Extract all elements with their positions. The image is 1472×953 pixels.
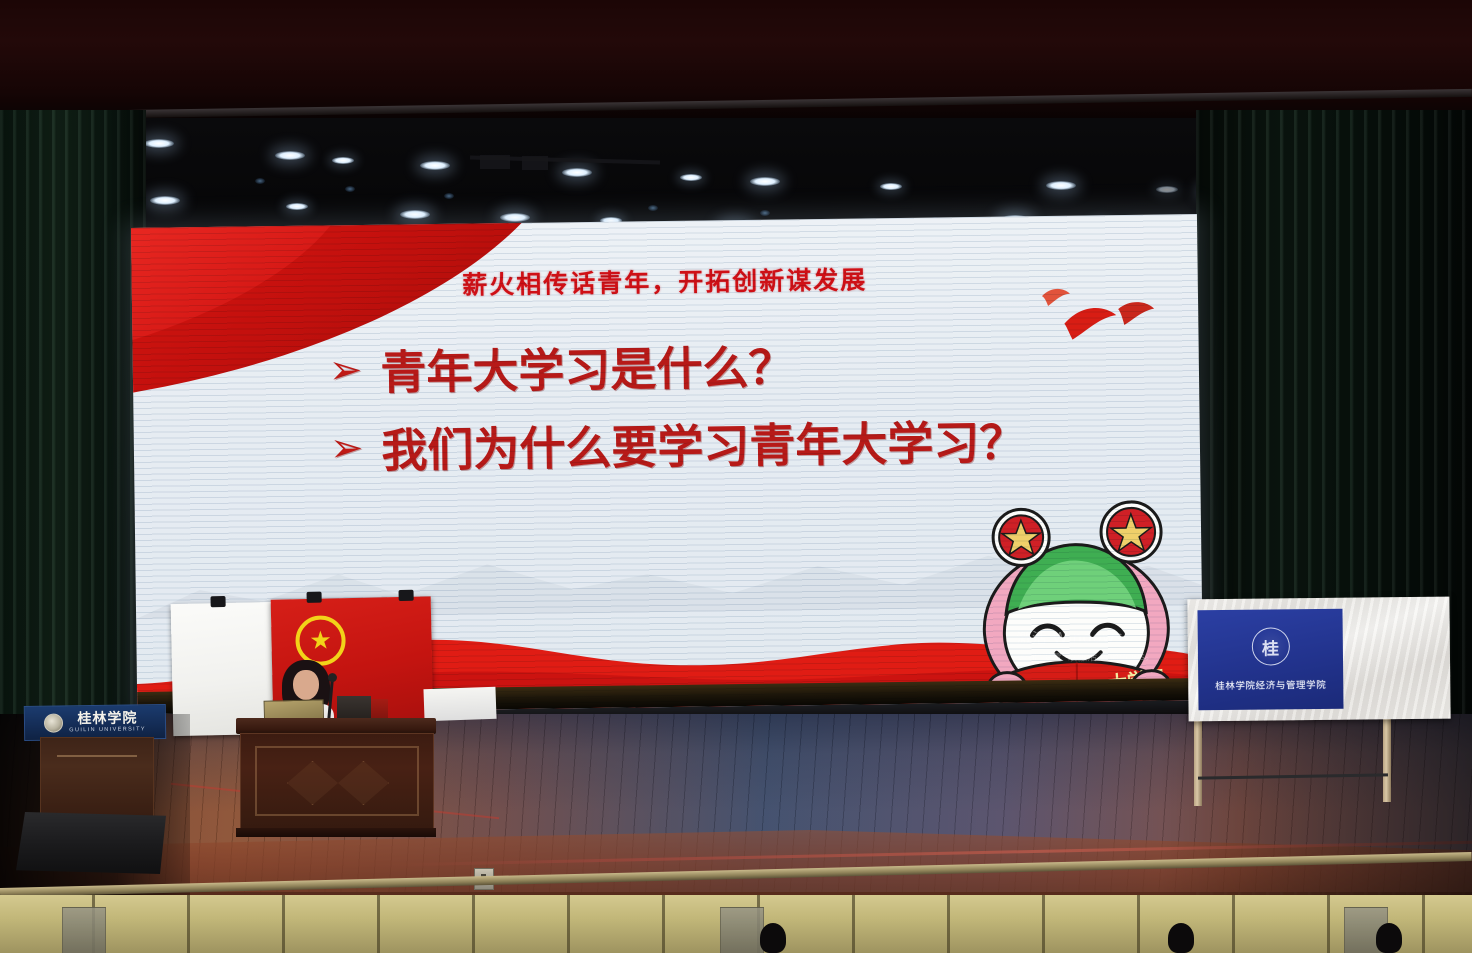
star-icon: ★ [309, 628, 332, 653]
ceiling-light [1046, 181, 1076, 190]
ceiling-light [420, 161, 450, 170]
department-emblem-icon: 桂 [1251, 627, 1289, 665]
blue-indicator-light [255, 178, 265, 184]
audience-head [1168, 923, 1194, 953]
lectern-sign-cn: 桂林学院 [77, 711, 137, 726]
department-banner: 桂 桂林学院经济与管理学院 [1187, 597, 1450, 722]
binder-clip-icon [399, 590, 414, 601]
audience-head [1376, 923, 1402, 953]
blue-indicator-light [345, 186, 355, 192]
slide-bullet-1: ➢ 青年大学习是什么？ [329, 336, 1050, 402]
blue-indicator-light [648, 205, 658, 211]
stage-monitor-speaker [16, 812, 166, 874]
table-base [236, 828, 436, 837]
lectern-sign-text: 桂林学院 GUILIN UNIVERSITY [69, 711, 146, 734]
apron-vent [720, 907, 764, 953]
ceiling-light [400, 210, 430, 219]
audience-head [760, 923, 786, 953]
ceiling-light [500, 213, 530, 222]
lectern-sign: 桂林学院 GUILIN UNIVERSITY [24, 704, 166, 741]
white-banner-strip [423, 687, 496, 721]
binder-clip-icon [307, 592, 322, 603]
ceiling-light [880, 183, 902, 190]
table-panel-border [255, 746, 419, 816]
blue-indicator-light [760, 210, 770, 216]
banner-pole-right [1383, 710, 1391, 802]
ceiling-light [275, 151, 305, 160]
speaker-table [236, 718, 436, 838]
ceiling-light [144, 139, 174, 148]
slide-bullet-2: ➢ 我们为什么要学习青年大学习？ [330, 414, 1051, 480]
ceiling-light [286, 203, 308, 210]
university-logo-icon [44, 713, 63, 732]
rig-bar [480, 155, 510, 169]
blue-indicator-light [444, 193, 454, 199]
ceiling-light [562, 168, 592, 177]
apron-vent [62, 907, 106, 953]
ceiling-light [1156, 186, 1178, 193]
auditorium-scene: 薪火相传话青年，开拓创新谋发展 ➢ 青年大学习是什么？ ➢ 我们为什么要学习青年… [0, 0, 1472, 953]
table-front-panel [240, 733, 434, 831]
banner-text: 桂林学院经济与管理学院 [1215, 677, 1326, 692]
rig-bar [522, 156, 548, 170]
slide-bullets: ➢ 青年大学习是什么？ ➢ 我们为什么要学习青年大学习？ [329, 336, 1051, 502]
binder-clip-icon [210, 596, 225, 607]
banner-pole-left [1194, 714, 1202, 806]
banner-blue-field: 桂 桂林学院经济与管理学院 [1197, 609, 1343, 711]
youth-league-emblem-icon: ★ [295, 615, 346, 666]
lectern: 桂林学院 GUILIN UNIVERSITY [40, 705, 152, 831]
arrow-bullet-icon: ➢ [329, 345, 363, 395]
presenter-face [293, 670, 319, 700]
slide-bullet-2-text: 我们为什么要学习青年大学习？ [381, 414, 1050, 479]
arrow-bullet-icon: ➢ [330, 423, 364, 473]
ceiling-light [150, 196, 180, 205]
ceiling-light [750, 177, 780, 186]
ceiling-light [332, 157, 354, 164]
stage-shadow-right [1160, 714, 1472, 899]
ceiling-light [680, 174, 702, 181]
slide-bullet-1-text: 青年大学习是什么？ [380, 336, 1049, 401]
youth-study-mascot: 大学习 [959, 489, 1194, 707]
lectern-sign-en: GUILIN UNIVERSITY [69, 727, 146, 734]
table-top [236, 718, 436, 734]
stage-apron [0, 895, 1472, 953]
